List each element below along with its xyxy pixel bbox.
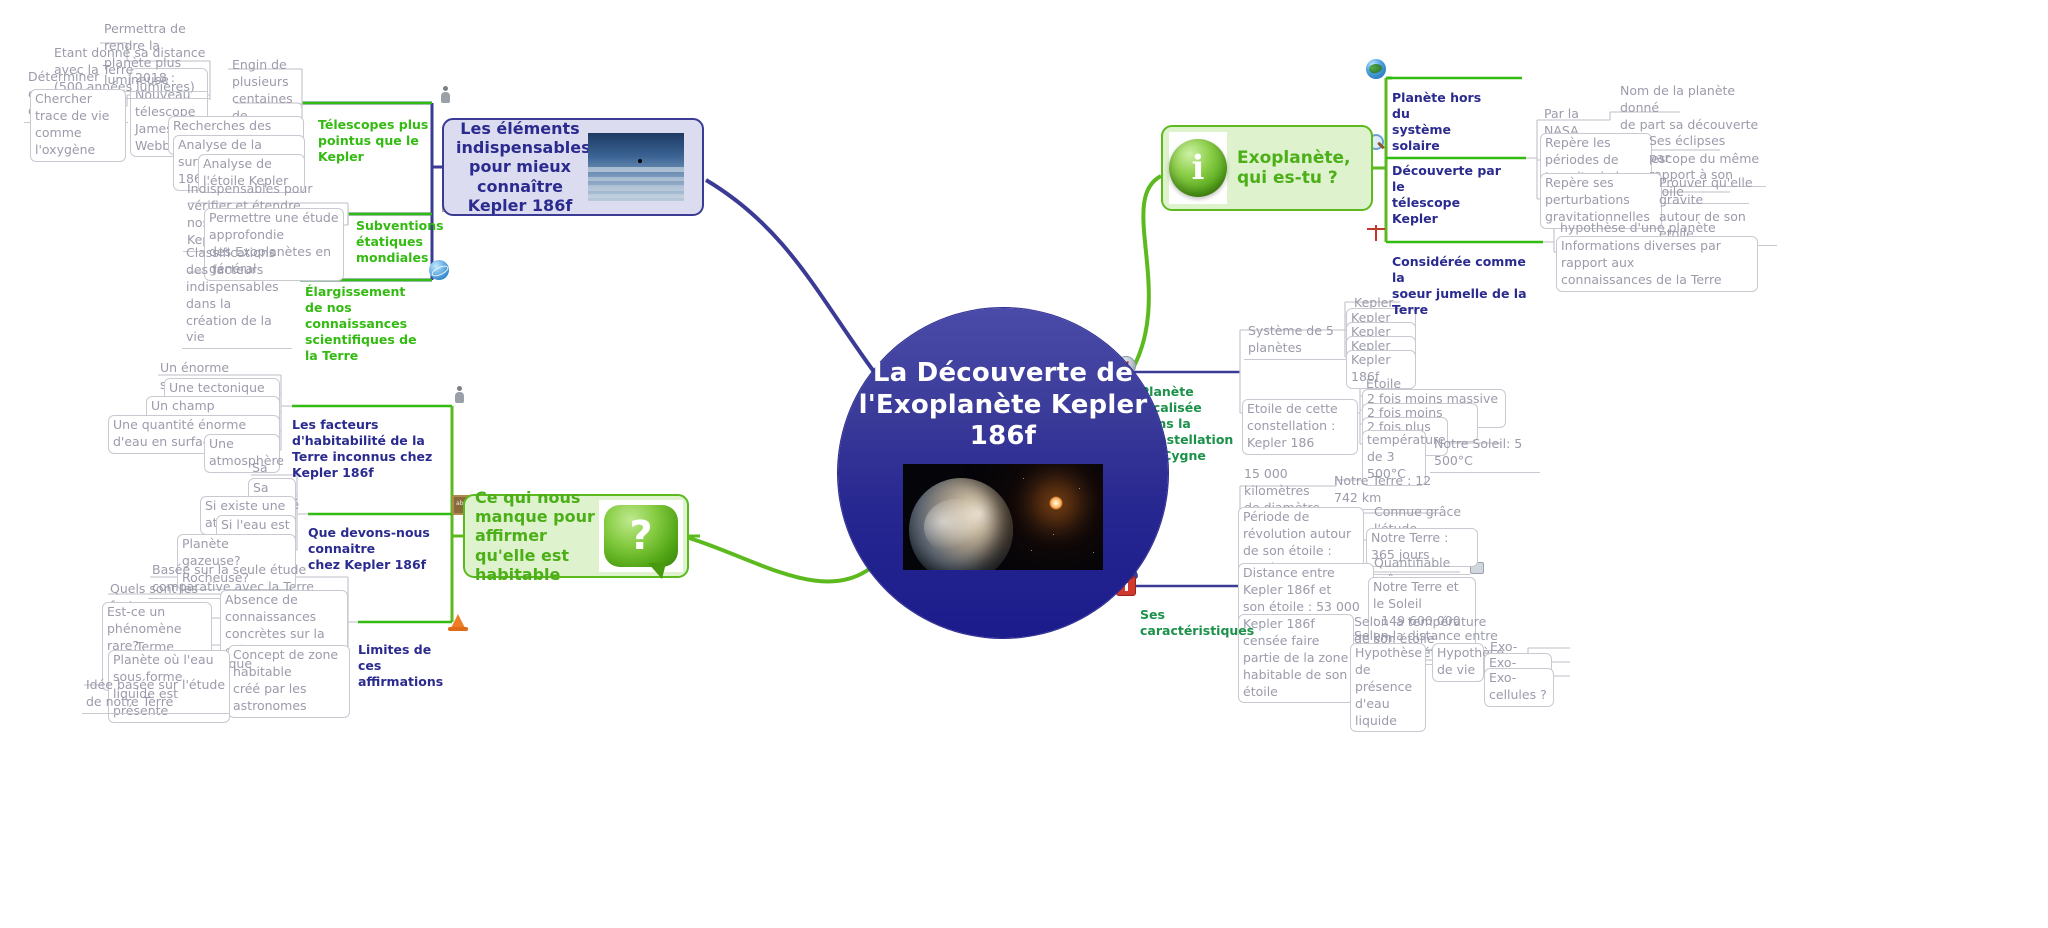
subtopic-label: Télescopes plus pointus que le Kepler <box>318 117 428 164</box>
subtopic-label: Élargissement de nos connaissances scien… <box>305 284 417 363</box>
planet-graphic <box>909 478 1013 570</box>
leaf-node[interactable]: Système de 5 planètes <box>1244 322 1346 360</box>
info-icon: i <box>1169 132 1227 204</box>
leaf-node[interactable]: Informations diverses par rapport aux co… <box>1556 236 1758 292</box>
mindmap-canvas: La Découverte de l'Exoplanète Kepler 186… <box>0 0 2048 928</box>
scale-icon <box>1366 224 1386 244</box>
subtopic-telescopes-plus-pointus[interactable]: Télescopes plus pointus que le Kepler <box>318 85 438 167</box>
topic-label: Les éléments indispensables pour mieux c… <box>456 119 584 215</box>
atom-icon <box>429 260 449 280</box>
hubble-telescope-image <box>588 133 684 201</box>
subtopic-ses-caracteristiques[interactable]: Ses caractéristiques <box>1140 575 1270 641</box>
topic-label: Ce qui nous manque pour affirmer qu'elle… <box>475 488 599 584</box>
subtopic-label: Découverte par le télescope Kepler <box>1392 163 1501 226</box>
subtopic-decouverte-telescope-kepler[interactable]: Découverte par le télescope Kepler <box>1392 131 1508 229</box>
globe-icon <box>1366 59 1386 79</box>
topic-ce-qui-nous-manque[interactable]: Ce qui nous manque pour affirmer qu'elle… <box>463 494 689 578</box>
leaf-node[interactable]: Idée basée sur l'étude de notre Terre <box>82 676 230 714</box>
subtopic-soeur-jumelle-terre[interactable]: Considérée comme la soeur jumelle de la … <box>1392 222 1532 320</box>
subtopic-label: Que devons-nous connaitre chez Kepler 18… <box>308 525 430 572</box>
leaf-node[interactable]: Exo-cellules ? <box>1484 668 1554 707</box>
hubble-dot <box>638 159 642 163</box>
central-topic-title: La Découverte de l'Exoplanète Kepler 186… <box>853 358 1153 453</box>
subtopic-label: Les facteurs d'habitabilité de la Terre … <box>292 417 432 480</box>
central-topic-image <box>903 464 1103 570</box>
subtopic-label: Ses caractéristiques <box>1140 607 1254 638</box>
topic-les-elements-indispensables[interactable]: Les éléments indispensables pour mieux c… <box>442 118 704 216</box>
leaf-node[interactable]: Hypothèse de vie <box>1432 643 1484 682</box>
subtopic-label: Considérée comme la soeur jumelle de la … <box>1392 254 1527 317</box>
leaf-node[interactable]: Notre Soleil: 5 500°C <box>1430 435 1540 473</box>
cone-icon <box>448 612 468 632</box>
subtopic-elargissement-connaissances[interactable]: Élargissement de nos connaissances scien… <box>305 252 423 366</box>
leaf-node[interactable]: Etoile de cette constellation : Kepler 1… <box>1242 399 1358 455</box>
topic-exoplanete-qui-es-tu[interactable]: i Exoplanète, qui es-tu ? <box>1161 125 1373 211</box>
leaf-node[interactable]: Hypothèse de présence d'eau liquide <box>1350 643 1426 732</box>
leaf-node[interactable]: Chercher trace de vie comme l'oxygène <box>30 89 126 162</box>
question-icon: ? <box>599 500 683 572</box>
leaf-node[interactable]: Classifications des facteurs indispensab… <box>182 244 292 349</box>
topic-label: Exoplanète, qui es-tu ? <box>1237 148 1365 189</box>
people-icon <box>454 385 474 405</box>
people-icon <box>440 85 460 105</box>
central-topic[interactable]: La Découverte de l'Exoplanète Kepler 186… <box>838 308 1168 638</box>
subtopic-que-devons-nous-connaitre[interactable]: Que devons-nous connaitre chez Kepler 18… <box>308 493 448 575</box>
star-graphic <box>1049 496 1063 510</box>
subtopic-limites-affirmations[interactable]: Limites de ces affirmations <box>358 610 442 692</box>
subtopic-label: Limites de ces affirmations <box>358 642 443 689</box>
subtopic-facteurs-habitabilite[interactable]: Les facteurs d'habitabilité de la Terre … <box>292 385 452 483</box>
